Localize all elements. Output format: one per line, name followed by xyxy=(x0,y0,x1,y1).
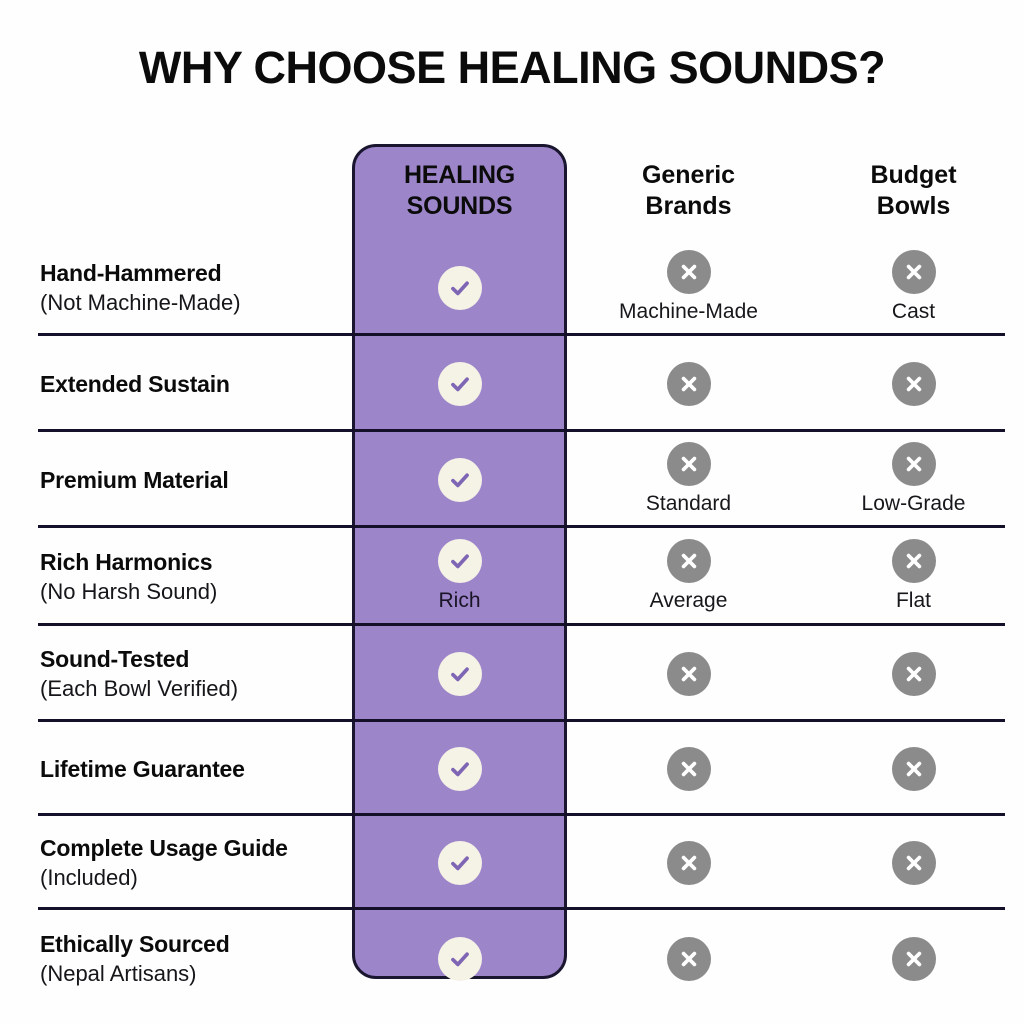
status-cell-generic-brands xyxy=(581,722,796,816)
row-divider xyxy=(38,907,1005,910)
table-row: Extended Sustain xyxy=(38,336,1005,432)
feature-subtitle: (Nepal Artisans) xyxy=(40,960,348,988)
feature-label-cell: Ethically Sourced(Nepal Artisans) xyxy=(40,910,348,1008)
check-icon xyxy=(438,458,482,502)
feature-subtitle: (Not Machine-Made) xyxy=(40,289,348,317)
status-cell-healing-sounds xyxy=(352,722,567,816)
feature-label-cell: Complete Usage Guide(Included) xyxy=(40,816,348,910)
status-cell-healing-sounds xyxy=(352,240,567,336)
feature-subtitle: (No Harsh Sound) xyxy=(40,578,348,606)
status-note: Cast xyxy=(892,301,935,322)
column-header-line1: Budget xyxy=(806,160,1021,191)
status-cell-budget-bowls xyxy=(806,816,1021,910)
cross-icon xyxy=(667,362,711,406)
table-row: Complete Usage Guide(Included) xyxy=(38,816,1005,910)
column-header-line2: Brands xyxy=(581,191,796,222)
row-divider xyxy=(38,623,1005,626)
column-header-line2: SOUNDS xyxy=(352,191,567,222)
status-cell-healing-sounds xyxy=(352,432,567,528)
status-cell-healing-sounds xyxy=(352,626,567,722)
status-cell-budget-bowls xyxy=(806,336,1021,432)
status-cell-budget-bowls: Flat xyxy=(806,528,1021,626)
column-header-budget-bowls: Budget Bowls xyxy=(806,160,1021,221)
feature-title: Ethically Sourced xyxy=(40,930,348,958)
status-cell-generic-brands: Machine-Made xyxy=(581,240,796,336)
cross-icon xyxy=(892,250,936,294)
check-icon xyxy=(438,652,482,696)
status-cell-budget-bowls: Low-Grade xyxy=(806,432,1021,528)
feature-title: Hand-Hammered xyxy=(40,259,348,287)
cross-icon xyxy=(892,937,936,981)
table-row: Ethically Sourced(Nepal Artisans) xyxy=(38,910,1005,1008)
feature-title: Premium Material xyxy=(40,466,348,494)
cross-icon xyxy=(667,937,711,981)
status-note: Rich xyxy=(438,590,480,611)
cross-icon xyxy=(892,539,936,583)
feature-label-cell: Premium Material xyxy=(40,432,348,528)
row-divider xyxy=(38,525,1005,528)
feature-subtitle: (Each Bowl Verified) xyxy=(40,675,348,703)
feature-subtitle: (Included) xyxy=(40,864,348,892)
column-header-line2: Bowls xyxy=(806,191,1021,222)
row-divider xyxy=(38,333,1005,336)
cross-icon xyxy=(667,539,711,583)
cross-icon xyxy=(892,841,936,885)
status-cell-budget-bowls xyxy=(806,626,1021,722)
status-cell-healing-sounds xyxy=(352,910,567,1008)
status-cell-generic-brands: Average xyxy=(581,528,796,626)
status-note: Low-Grade xyxy=(862,493,966,514)
row-divider xyxy=(38,719,1005,722)
table-header-row: HEALING SOUNDS Generic Brands Budget Bow… xyxy=(38,140,1005,240)
feature-label-cell: Rich Harmonics(No Harsh Sound) xyxy=(40,528,348,626)
status-cell-healing-sounds xyxy=(352,816,567,910)
feature-label-cell: Lifetime Guarantee xyxy=(40,722,348,816)
feature-title: Sound-Tested xyxy=(40,645,348,673)
status-note: Machine-Made xyxy=(619,301,758,322)
status-cell-budget-bowls xyxy=(806,722,1021,816)
comparison-table: HEALING SOUNDS Generic Brands Budget Bow… xyxy=(38,140,1005,988)
table-row: Rich Harmonics(No Harsh Sound)RichAverag… xyxy=(38,528,1005,626)
table-row: Hand-Hammered(Not Machine-Made)Machine-M… xyxy=(38,240,1005,336)
check-icon xyxy=(438,841,482,885)
cross-icon xyxy=(667,747,711,791)
status-note: Flat xyxy=(896,590,931,611)
table-row: Sound-Tested(Each Bowl Verified) xyxy=(38,626,1005,722)
feature-title: Extended Sustain xyxy=(40,370,348,398)
row-divider xyxy=(38,429,1005,432)
column-header-generic-brands: Generic Brands xyxy=(581,160,796,221)
feature-title: Complete Usage Guide xyxy=(40,834,348,862)
status-cell-budget-bowls xyxy=(806,910,1021,1008)
row-divider xyxy=(38,813,1005,816)
check-icon xyxy=(438,539,482,583)
column-header-line1: HEALING xyxy=(352,160,567,191)
cross-icon xyxy=(892,362,936,406)
feature-title: Rich Harmonics xyxy=(40,548,348,576)
cross-icon xyxy=(892,652,936,696)
status-cell-healing-sounds xyxy=(352,336,567,432)
check-icon xyxy=(438,747,482,791)
check-icon xyxy=(438,266,482,310)
page-title: WHY CHOOSE HEALING SOUNDS? xyxy=(0,42,1024,94)
feature-label-cell: Sound-Tested(Each Bowl Verified) xyxy=(40,626,348,722)
cross-icon xyxy=(892,442,936,486)
cross-icon xyxy=(667,442,711,486)
status-cell-generic-brands xyxy=(581,336,796,432)
feature-label-cell: Extended Sustain xyxy=(40,336,348,432)
feature-label-cell: Hand-Hammered(Not Machine-Made) xyxy=(40,240,348,336)
cross-icon xyxy=(667,841,711,885)
cross-icon xyxy=(667,250,711,294)
check-icon xyxy=(438,937,482,981)
column-header-line1: Generic xyxy=(581,160,796,191)
check-icon xyxy=(438,362,482,406)
cross-icon xyxy=(667,652,711,696)
table-row: Premium MaterialStandardLow-Grade xyxy=(38,432,1005,528)
status-note: Standard xyxy=(646,493,731,514)
cross-icon xyxy=(892,747,936,791)
status-note: Average xyxy=(650,590,728,611)
feature-title: Lifetime Guarantee xyxy=(40,755,348,783)
status-cell-healing-sounds: Rich xyxy=(352,528,567,626)
status-cell-generic-brands xyxy=(581,626,796,722)
table-body: Hand-Hammered(Not Machine-Made)Machine-M… xyxy=(38,240,1005,1008)
status-cell-generic-brands xyxy=(581,910,796,1008)
status-cell-generic-brands xyxy=(581,816,796,910)
status-cell-budget-bowls: Cast xyxy=(806,240,1021,336)
table-row: Lifetime Guarantee xyxy=(38,722,1005,816)
status-cell-generic-brands: Standard xyxy=(581,432,796,528)
column-header-healing-sounds: HEALING SOUNDS xyxy=(352,160,567,221)
